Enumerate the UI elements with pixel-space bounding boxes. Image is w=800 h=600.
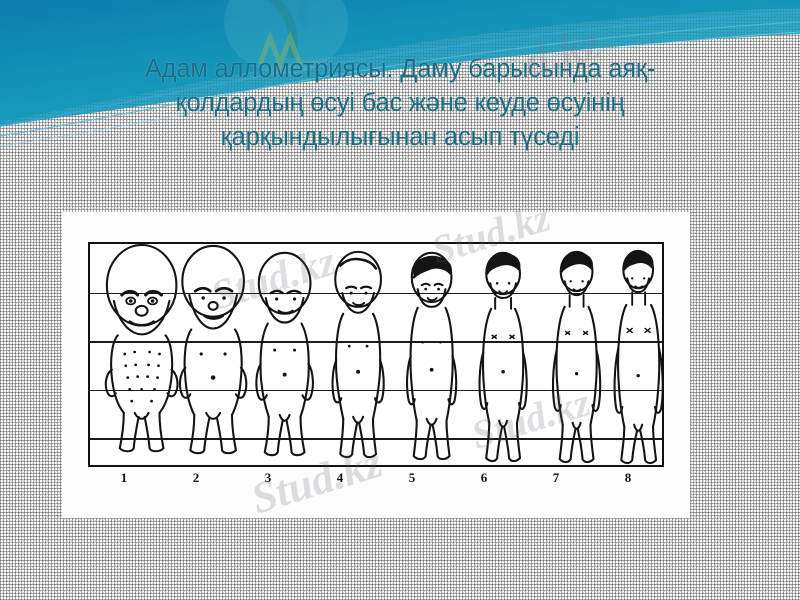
figure-6-adolescent	[480, 253, 527, 461]
caption-5: 5	[376, 470, 448, 486]
caption-3: 3	[232, 470, 304, 486]
illustration-panel: 1 2 3 4 5 6 7 8	[62, 212, 690, 518]
page-title: Адам аллометриясы. Даму барысында аяқ- қ…	[40, 52, 760, 154]
figure-1-fetus	[106, 245, 178, 451]
figure-3-newborn	[256, 253, 313, 455]
figure-8-adult	[615, 251, 662, 463]
figure-5-child	[407, 253, 456, 459]
human-figures-group	[90, 244, 662, 465]
caption-6: 6	[448, 470, 520, 486]
caption-7: 7	[520, 470, 592, 486]
human-figures-drawing	[90, 244, 662, 465]
figure-7-teen	[553, 252, 600, 462]
figure-4-toddler	[333, 252, 384, 457]
figure-frame	[88, 242, 664, 467]
slide-canvas: Адам аллометриясы. Даму барысында аяқ- қ…	[0, 0, 800, 600]
caption-4: 4	[304, 470, 376, 486]
figure-2-fetus	[180, 246, 246, 453]
caption-2: 2	[160, 470, 232, 486]
figure-caption-row: 1 2 3 4 5 6 7 8	[88, 470, 664, 494]
caption-1: 1	[88, 470, 160, 486]
caption-8: 8	[592, 470, 664, 486]
